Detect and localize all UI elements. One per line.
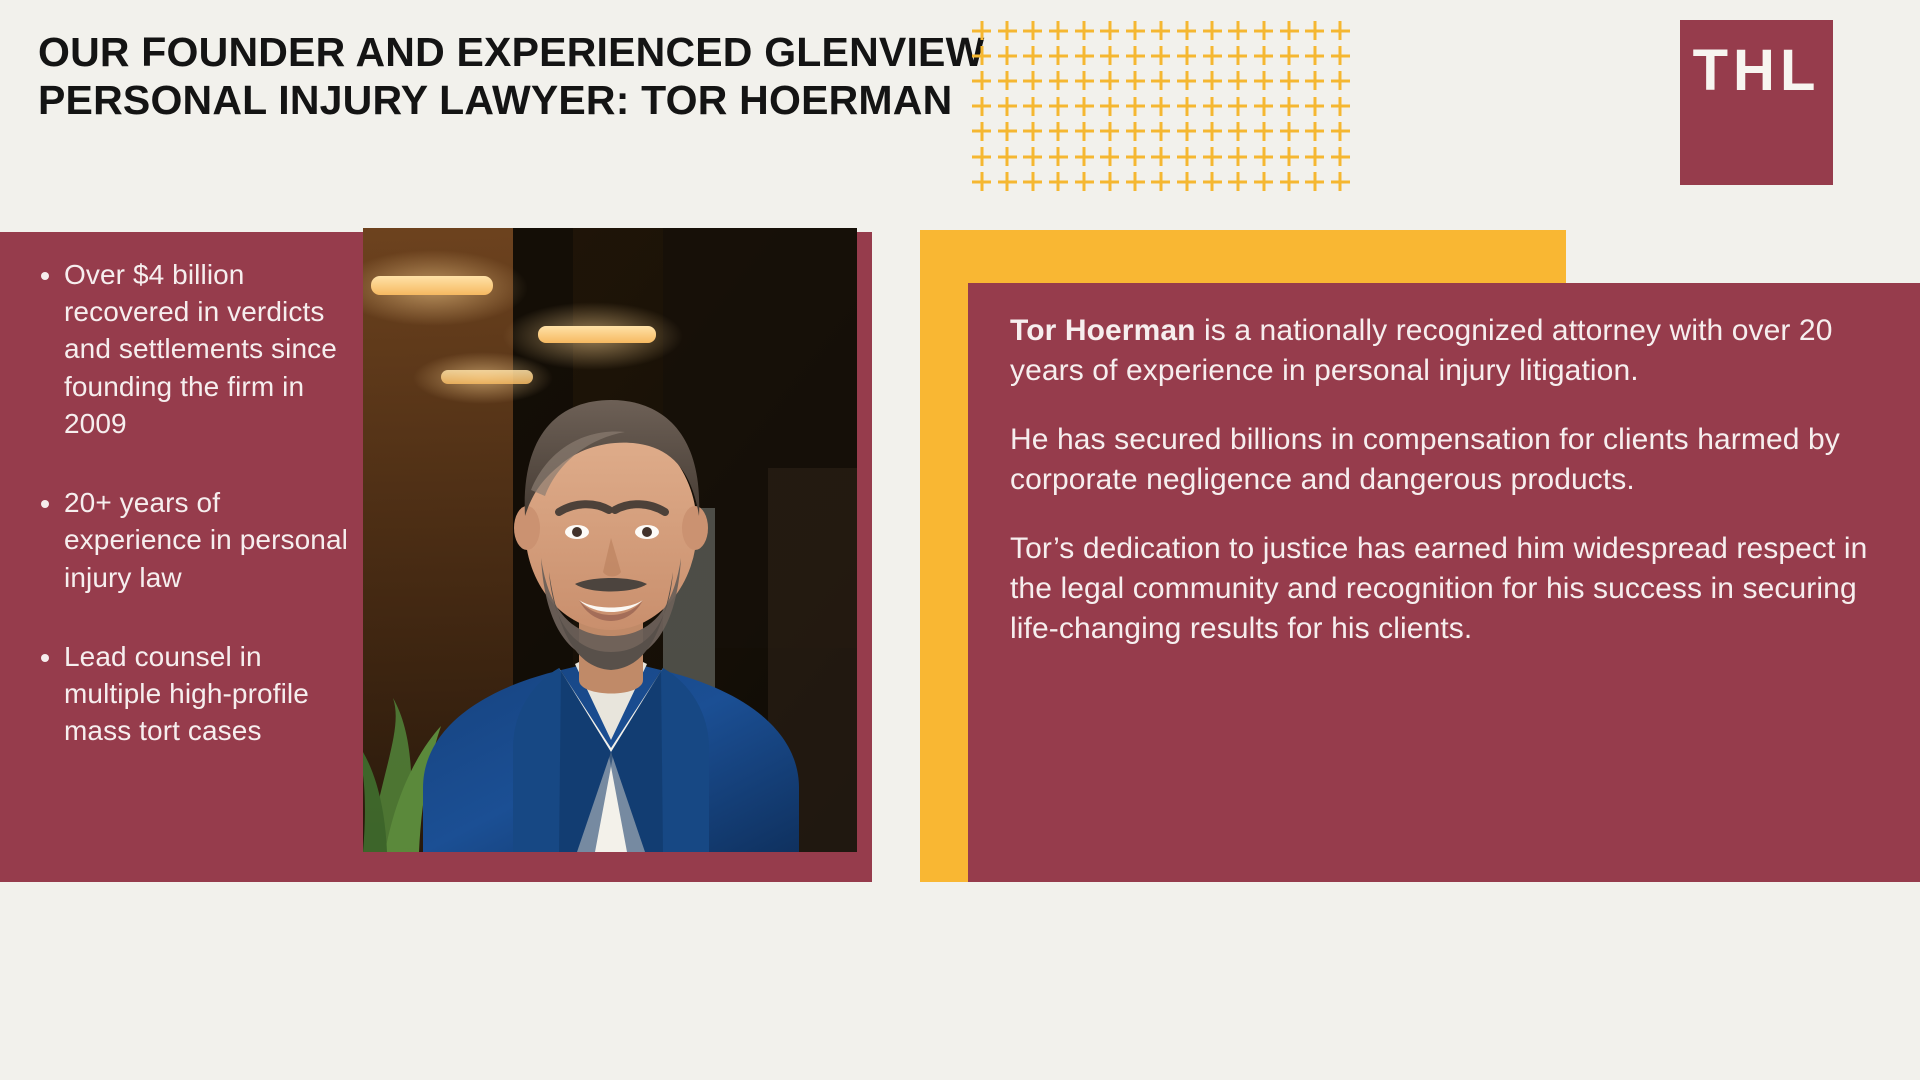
plus-icon <box>1151 172 1170 191</box>
plus-icon <box>998 21 1017 40</box>
plus-icon <box>1075 97 1094 116</box>
plus-icon <box>1100 122 1119 141</box>
list-item: Over $4 billion recovered in verdicts an… <box>34 256 354 442</box>
plus-pattern-row <box>972 94 1350 119</box>
plus-icon <box>1126 46 1145 65</box>
list-item: 20+ years of experience in personal inju… <box>34 484 354 596</box>
plus-icon <box>1331 97 1350 116</box>
plus-icon <box>1023 147 1042 166</box>
plus-icon <box>1305 147 1324 166</box>
plus-pattern-row <box>972 18 1350 43</box>
plus-icon <box>1049 21 1068 40</box>
thl-logo: THL <box>1680 20 1833 185</box>
plus-icon <box>1023 172 1042 191</box>
plus-icon <box>1331 21 1350 40</box>
plus-icon <box>1177 147 1196 166</box>
plus-icon <box>1049 97 1068 116</box>
plus-icon <box>1049 147 1068 166</box>
plus-pattern-row <box>972 68 1350 93</box>
plus-icon <box>972 71 991 90</box>
plus-icon <box>1280 21 1299 40</box>
plus-icon <box>1280 122 1299 141</box>
plus-icon <box>1254 147 1273 166</box>
plus-icon <box>998 46 1017 65</box>
plus-icon <box>1203 21 1222 40</box>
plus-icon <box>1049 71 1068 90</box>
plus-icon <box>1280 147 1299 166</box>
plus-icon <box>1151 46 1170 65</box>
plus-icon <box>1177 122 1196 141</box>
plus-icon <box>1280 172 1299 191</box>
plus-pattern-row <box>972 169 1350 194</box>
plus-icon <box>998 71 1017 90</box>
plus-icon <box>1100 21 1119 40</box>
plus-icon <box>1228 71 1247 90</box>
bio-paragraph: He has secured billions in compensation … <box>1010 420 1880 499</box>
plus-icon <box>1075 46 1094 65</box>
plus-icon <box>1049 46 1068 65</box>
plus-icon <box>1203 46 1222 65</box>
list-item: Lead counsel in multiple high-profile ma… <box>34 638 354 750</box>
plus-icon <box>972 97 991 116</box>
plus-icon <box>1023 122 1042 141</box>
plus-icon <box>1177 97 1196 116</box>
plus-icon <box>972 147 991 166</box>
bio-lead-name: Tor Hoerman <box>1010 314 1196 347</box>
thl-logo-text: THL <box>1693 42 1821 100</box>
plus-icon <box>1305 172 1324 191</box>
plus-icon <box>1254 46 1273 65</box>
plus-icon <box>1075 122 1094 141</box>
plus-icon <box>1126 71 1145 90</box>
plus-icon <box>1177 172 1196 191</box>
plus-icon <box>1305 71 1324 90</box>
plus-icon <box>1228 21 1247 40</box>
plus-icon <box>1151 71 1170 90</box>
plus-icon <box>1075 147 1094 166</box>
plus-icon <box>1254 122 1273 141</box>
plus-icon <box>1331 46 1350 65</box>
plus-icon <box>972 21 991 40</box>
plus-icon <box>1075 21 1094 40</box>
plus-icon <box>1151 122 1170 141</box>
plus-icon <box>1023 97 1042 116</box>
plus-icon <box>1151 21 1170 40</box>
founder-portrait-image <box>363 228 857 852</box>
plus-icon <box>1049 172 1068 191</box>
plus-icon <box>1305 21 1324 40</box>
plus-icon <box>1331 122 1350 141</box>
plus-icon <box>1254 21 1273 40</box>
plus-icon <box>1100 147 1119 166</box>
plus-icon <box>1151 147 1170 166</box>
plus-icon <box>1177 71 1196 90</box>
plus-icon <box>1228 122 1247 141</box>
plus-icon <box>1254 172 1273 191</box>
plus-icon <box>1023 21 1042 40</box>
plus-icon <box>1203 172 1222 191</box>
plus-icon <box>1100 172 1119 191</box>
plus-icon <box>1331 147 1350 166</box>
plus-icon <box>998 122 1017 141</box>
plus-icon <box>1126 21 1145 40</box>
plus-icon <box>1331 71 1350 90</box>
plus-icon <box>1280 71 1299 90</box>
plus-icon <box>1049 122 1068 141</box>
bottom-spacer <box>0 882 1920 1080</box>
bio-paragraph: Tor Hoerman is a nationally recognized a… <box>1010 311 1880 390</box>
founder-highlights-list: Over $4 billion recovered in verdicts an… <box>34 256 354 750</box>
plus-icon <box>1305 46 1324 65</box>
plus-icon <box>1305 122 1324 141</box>
plus-icon <box>1151 97 1170 116</box>
plus-icon <box>1177 46 1196 65</box>
plus-icon <box>1203 97 1222 116</box>
plus-icon <box>1228 97 1247 116</box>
plus-icon <box>1203 147 1222 166</box>
plus-icon <box>1100 71 1119 90</box>
plus-pattern-row <box>972 119 1350 144</box>
plus-icon <box>1023 71 1042 90</box>
plus-icon <box>1075 172 1094 191</box>
plus-pattern-row <box>972 43 1350 68</box>
plus-icon <box>1254 71 1273 90</box>
plus-icon <box>972 172 991 191</box>
infographic-canvas: OUR FOUNDER AND EXPERIENCED GLENVIEW PER… <box>0 0 1920 1080</box>
plus-icon <box>1126 97 1145 116</box>
plus-icon <box>1100 46 1119 65</box>
plus-icon <box>1100 97 1119 116</box>
plus-icon <box>1203 71 1222 90</box>
left-highlights-panel: Over $4 billion recovered in verdicts an… <box>0 232 872 882</box>
plus-icon <box>998 172 1017 191</box>
plus-icon <box>1228 46 1247 65</box>
plus-icon <box>1228 147 1247 166</box>
plus-icon <box>1280 97 1299 116</box>
plus-icon <box>1228 172 1247 191</box>
bio-paragraph: Tor’s dedication to justice has earned h… <box>1010 529 1880 648</box>
plus-icon <box>1203 122 1222 141</box>
plus-icon <box>1126 122 1145 141</box>
plus-icon <box>1280 46 1299 65</box>
plus-icon <box>1177 21 1196 40</box>
plus-pattern-row <box>972 144 1350 169</box>
plus-icon <box>972 46 991 65</box>
plus-icon <box>1254 97 1273 116</box>
plus-icon <box>972 122 991 141</box>
plus-icon <box>1331 172 1350 191</box>
page-title: OUR FOUNDER AND EXPERIENCED GLENVIEW PER… <box>38 28 1098 125</box>
plus-icon <box>1023 46 1042 65</box>
plus-icon <box>1075 71 1094 90</box>
plus-icon <box>998 147 1017 166</box>
plus-icon <box>1126 172 1145 191</box>
founder-bio-panel: Tor Hoerman is a nationally recognized a… <box>968 283 1920 882</box>
plus-icon <box>998 97 1017 116</box>
plus-icon <box>1126 147 1145 166</box>
plus-pattern-decoration <box>972 18 1350 194</box>
plus-icon <box>1305 97 1324 116</box>
